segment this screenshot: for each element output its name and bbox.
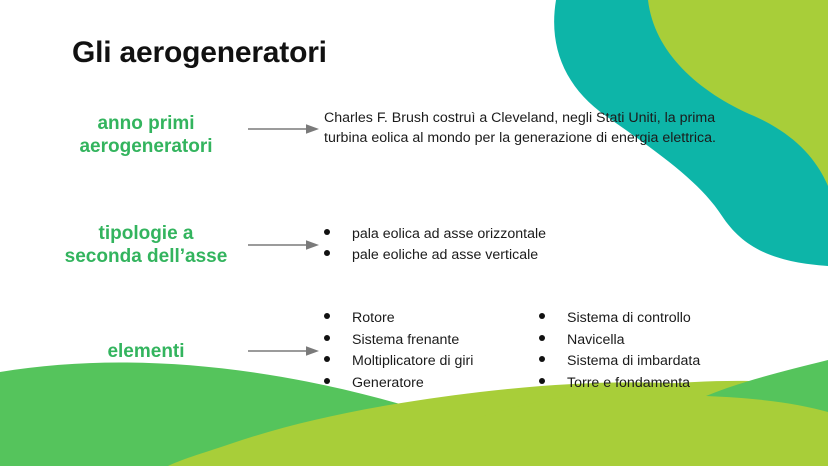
section-label-anno-primi-aerogeneratori: anno primi aerogeneratori [48,112,244,158]
bullet-list-elementi-left: Rotore Sistema frenante Moltiplicatore d… [324,308,539,394]
list-item-label: Torre e fondamenta [567,373,690,395]
bullet-dot-icon [539,356,545,362]
list-item: pala eolica ad asse orizzontale [324,224,546,246]
bullet-dot-icon [324,378,330,384]
list-item-label: Sistema di controllo [567,308,691,330]
list-item: pale eoliche ad asse verticale [324,245,546,267]
list-item-label: Sistema di imbardata [567,351,700,373]
list-item: Sistema frenante [324,330,539,352]
list-item: Moltiplicatore di giri [324,351,539,373]
section-paragraph-anno-primi-aerogeneratori: Charles F. Brush costruì a Cleveland, ne… [324,108,754,149]
bullet-dot-icon [539,335,545,341]
section-elementi: elementi Rotore Sistema frenante [48,308,700,394]
list-item-label: Rotore [352,308,395,330]
section-label-elementi: elementi [48,340,244,363]
top-lime-wave-shape-2 [612,0,828,210]
bullet-dot-icon [324,356,330,362]
slide: Gli aerogeneratori anno primi aerogenera… [0,0,828,466]
section-label-tipologie-a-seconda-dellasse: tipologie a seconda dell’asse [48,222,244,268]
section-anno-primi-aerogeneratori: anno primi aerogeneratori Charles F. Bru… [48,108,754,158]
bullet-dot-icon [324,335,330,341]
bottom-lime-wave-shape [168,382,828,466]
bullet-list-elementi-right: Sistema di controllo Navicella Sistema d… [539,308,700,394]
list-item: Generatore [324,373,539,395]
page-title: Gli aerogeneratori [72,36,327,70]
arrow-container [244,108,324,136]
list-item: Sistema di imbardata [539,351,700,373]
arrow-right-icon [248,238,320,252]
bullet-dot-icon [539,313,545,319]
list-item-label: Generatore [352,373,424,395]
arrow-container [244,238,324,252]
list-item: Navicella [539,330,700,352]
list-item-label: Sistema frenante [352,330,459,352]
bullet-columns: Rotore Sistema frenante Moltiplicatore d… [324,308,700,394]
list-item-label: pale eoliche ad asse verticale [352,245,538,267]
bullet-dot-icon [324,229,330,235]
bottom-green-accent-shape [706,360,828,412]
section-label-container: elementi [48,340,244,363]
list-item-label: pala eolica ad asse orizzontale [352,224,546,246]
list-item: Sistema di controllo [539,308,700,330]
list-item-label: Navicella [567,330,625,352]
list-item: Torre e fondamenta [539,373,700,395]
bullet-list-tipologie: pala eolica ad asse orizzontale pale eol… [324,224,546,267]
list-item: Rotore [324,308,539,330]
arrow-right-icon [248,344,320,358]
bullet-dot-icon [324,250,330,256]
section-tipologie-a-seconda-dellasse: tipologie a seconda dell’asse pala eolic… [48,222,546,268]
top-lime-wave-shape [650,0,828,200]
bullet-columns: pala eolica ad asse orizzontale pale eol… [324,224,546,267]
bullet-dot-icon [324,313,330,319]
section-label-container: tipologie a seconda dell’asse [48,222,244,268]
arrow-right-icon [248,122,320,136]
arrow-container [244,344,324,358]
list-item-label: Moltiplicatore di giri [352,351,473,373]
section-label-container: anno primi aerogeneratori [48,108,244,158]
bullet-dot-icon [539,378,545,384]
